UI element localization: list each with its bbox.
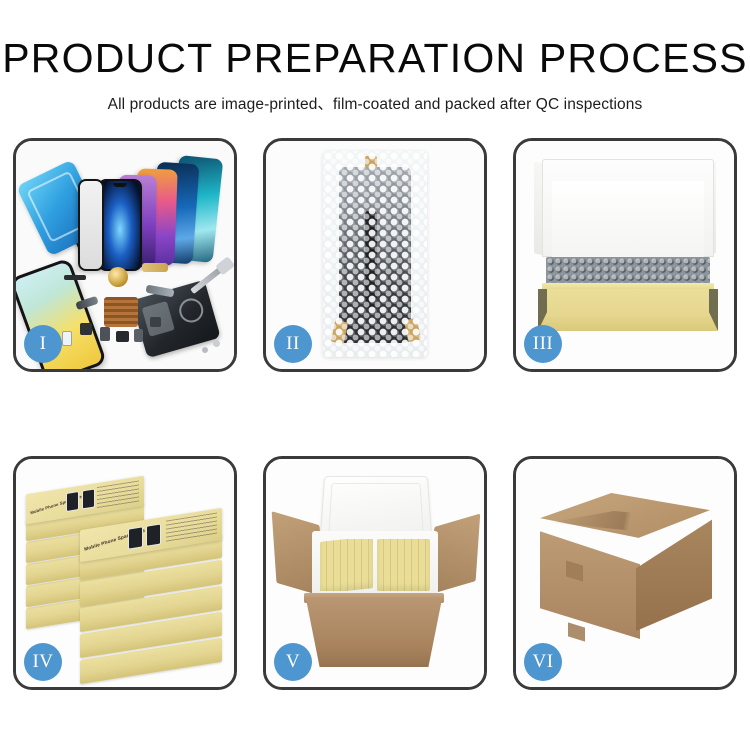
step-panel-6[interactable]: VI xyxy=(513,456,737,690)
header: PRODUCT PREPARATION PROCESS All products… xyxy=(0,0,750,114)
yellow-box-group xyxy=(377,539,430,591)
phone-thumbnail-icon xyxy=(82,489,95,510)
product-preparation-poster: PRODUCT PREPARATION PROCESS All products… xyxy=(0,0,750,750)
page-subtitle: All products are image-printed、film-coat… xyxy=(0,92,750,114)
step-badge-6: VI xyxy=(524,643,562,681)
flex-cable-icon xyxy=(142,263,168,272)
chip-component-icon xyxy=(134,329,143,342)
chip-component-icon xyxy=(116,331,129,342)
step-badge-2: II xyxy=(274,325,312,363)
box-label-textlines xyxy=(97,481,139,509)
phone-fan-group xyxy=(94,157,234,277)
step-badge-1: I xyxy=(24,325,62,363)
copper-grid-component-icon xyxy=(104,297,138,327)
bar-component-icon xyxy=(64,275,86,280)
box-label-thumbnails xyxy=(128,523,161,549)
screw-icon xyxy=(202,347,208,353)
step-badge-3: III xyxy=(524,325,562,363)
step-panel-2[interactable]: II xyxy=(263,138,487,372)
chip-component-icon xyxy=(80,323,92,335)
phone-dark-screen-icon xyxy=(98,179,142,271)
box-label-thumbnails xyxy=(66,489,95,513)
page-title: PRODUCT PREPARATION PROCESS xyxy=(0,38,750,79)
yellow-box-front xyxy=(538,289,718,331)
step-badge-5: V xyxy=(274,643,312,681)
yellow-box-group xyxy=(320,539,373,591)
carton-face-left xyxy=(540,529,640,639)
phone-thumbnail-icon xyxy=(66,491,79,512)
coil-component-icon xyxy=(108,267,128,287)
screen-protector-icon xyxy=(78,179,104,271)
step-panel-1[interactable]: I xyxy=(13,138,237,372)
bubble-texture-highlight xyxy=(323,151,427,357)
phone-chassis-icon xyxy=(131,280,221,359)
step-badge-4: IV xyxy=(24,643,62,681)
step-panel-5[interactable]: V xyxy=(263,456,487,690)
foam-sheet-icon xyxy=(552,181,704,261)
tape-piece-icon xyxy=(568,622,585,641)
carton-front xyxy=(306,599,442,667)
sim-tray-icon xyxy=(62,331,72,346)
phone-notch-icon xyxy=(113,183,127,187)
chip-component-icon xyxy=(100,327,110,341)
phone-thumbnail-icon xyxy=(146,523,161,546)
box-label-textlines xyxy=(166,513,217,543)
process-steps-grid: I II xyxy=(13,138,737,690)
step-panel-3[interactable]: III xyxy=(513,138,737,372)
packed-yellow-boxes xyxy=(320,539,430,591)
chip-component-icon xyxy=(150,317,161,327)
screw-icon xyxy=(213,340,220,347)
bubble-wrap-bag xyxy=(323,151,427,357)
step-panel-4[interactable]: Mobile Phone Spare Parts Mobile Phone Sp… xyxy=(13,456,237,690)
phone-thumbnail-icon xyxy=(128,526,143,549)
